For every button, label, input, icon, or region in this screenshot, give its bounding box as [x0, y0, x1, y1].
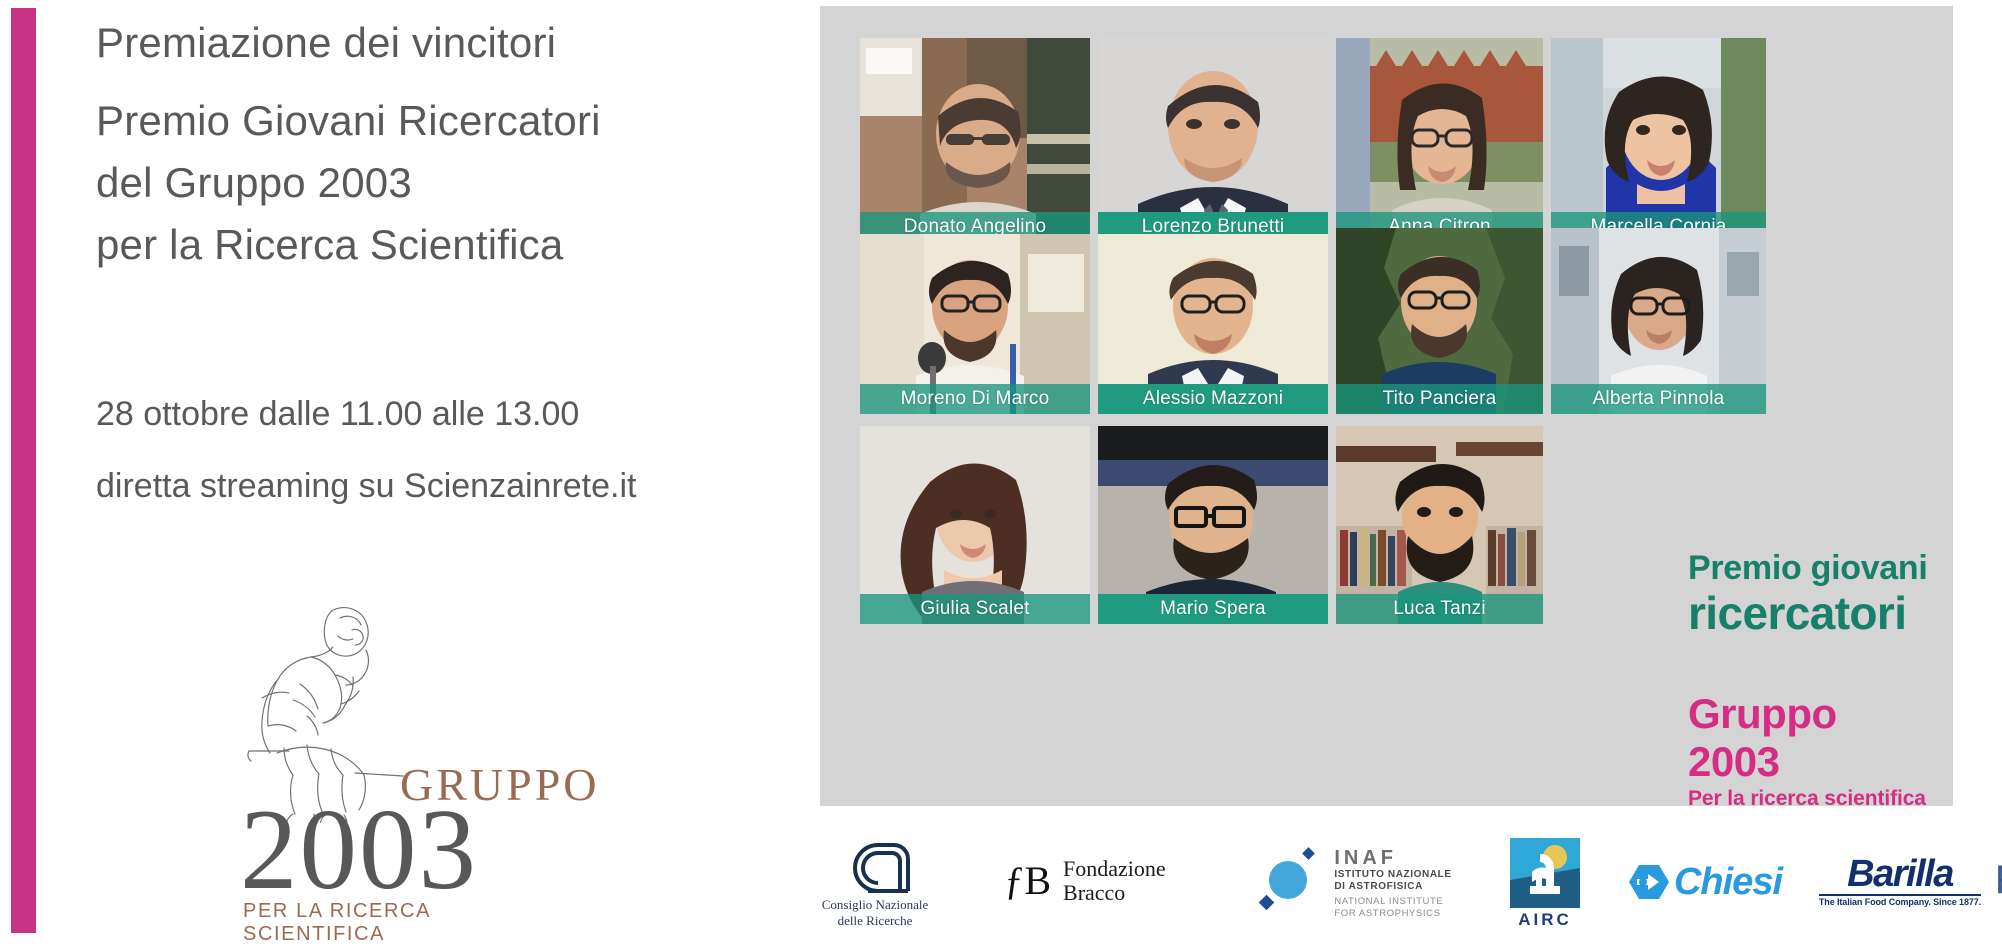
winner-name: Mario Spera: [1160, 598, 1266, 620]
cnr-label-1: Consiglio Nazionale: [822, 897, 929, 913]
sponsor-airc[interactable]: AIRC: [1500, 836, 1590, 932]
bracco-label-1: Fondazione: [1063, 857, 1166, 881]
winner-name-bar: Luca Tanzi: [1336, 594, 1543, 624]
winner-name: Tito Panciera: [1383, 388, 1497, 410]
cnr-monogram-icon: [838, 839, 912, 897]
cnr-label-2: delle Ricerche: [838, 913, 913, 929]
event-details-block: 28 ottobre dalle 11.00 alle 13.00 dirett…: [96, 378, 756, 522]
chiesi-label: Chiesi: [1674, 861, 1782, 904]
winner-name: Alessio Mazzoni: [1143, 388, 1283, 410]
winner-name-bar: Alessio Mazzoni: [1098, 384, 1328, 414]
chiesi-hexagon-icon: [1628, 863, 1670, 901]
inaf-label-2: DI ASTROFISICA: [1334, 881, 1451, 893]
fenda-label: FeNDA: [1995, 858, 2002, 903]
sponsor-chiesi[interactable]: Chiesi: [1610, 852, 1800, 912]
winner-card[interactable]: Anna Citron: [1336, 38, 1543, 242]
logo-year: 2003: [240, 792, 478, 907]
winner-name: Alberta Pinnola: [1593, 388, 1725, 410]
winner-name-bar: Tito Panciera: [1336, 384, 1543, 414]
event-datetime: 28 ottobre dalle 11.00 alle 13.00: [96, 378, 756, 450]
heading-block: Premiazione dei vincitori Premio Giovani…: [96, 12, 746, 276]
winner-card[interactable]: Donato Angelino: [860, 38, 1090, 242]
accent-bar: [11, 8, 36, 933]
barilla-label: Barilla: [1847, 855, 1953, 893]
fb-monogram-icon: ƒB: [1004, 861, 1051, 901]
winner-name-bar: Giulia Scalet: [860, 594, 1090, 624]
award-line-4: Per la ricerca scientifica: [1688, 786, 1938, 812]
winner-name-bar: Moreno Di Marco: [860, 384, 1090, 414]
sponsor-barilla[interactable]: Barilla The Italian Food Company. Since …: [1810, 848, 1990, 914]
logo-tagline: PER LA RICERCA SCIENTIFICA: [243, 900, 575, 946]
gruppo2003-logo: GRUPPO 2003 PER LA RICERCA SCIENTIFICA: [215, 588, 575, 933]
award-line-3: Gruppo 2003: [1688, 690, 1938, 786]
sponsor-cnr[interactable]: Consiglio Nazionale delle Ricerche: [800, 830, 950, 938]
inaf-label-1: ISTITUTO NAZIONALE: [1334, 869, 1451, 881]
award-lockup: Premio giovani ricercatori Gruppo 2003 P…: [1688, 548, 1938, 812]
winner-name-bar: Alberta Pinnola: [1551, 384, 1766, 414]
winner-name: Giulia Scalet: [920, 598, 1029, 620]
event-streaming: diretta streaming su Scienzainrete.it: [96, 450, 756, 522]
heading-line-3: del Gruppo 2003: [96, 152, 746, 214]
barilla-tagline: The Italian Food Company. Since 1877.: [1819, 894, 1981, 907]
award-line-2: ricercatori: [1688, 588, 1938, 638]
inaf-label-4: FOR ASTROPHYSICS: [1334, 908, 1451, 920]
sponsor-strip: Consiglio Nazionale delle Ricerche ƒB Fo…: [800, 822, 1990, 948]
winner-card[interactable]: Lorenzo Brunetti: [1098, 38, 1328, 242]
sponsor-bracco[interactable]: ƒB Fondazione Bracco: [960, 846, 1210, 916]
winner-card[interactable]: Tito Panciera: [1336, 228, 1543, 414]
inaf-label-3: NATIONAL INSTITUTE: [1334, 896, 1451, 908]
airc-label: AIRC: [1518, 910, 1572, 930]
inaf-title: INAF: [1334, 847, 1451, 869]
winner-card[interactable]: Mario Spera: [1098, 426, 1328, 624]
winner-card[interactable]: Alberta Pinnola: [1551, 228, 1766, 414]
heading-line-4: per la Ricerca Scientifica: [96, 214, 746, 276]
winner-card[interactable]: Luca Tanzi: [1336, 426, 1543, 624]
airc-microscope-icon: [1510, 838, 1580, 908]
bracco-label-2: Bracco: [1063, 881, 1166, 905]
winner-card[interactable]: Marcella Cornia: [1551, 38, 1766, 242]
winner-card[interactable]: Giulia Scalet: [860, 426, 1090, 624]
heading-line-2: Premio Giovani Ricercatori: [96, 90, 746, 152]
winner-card[interactable]: Alessio Mazzoni: [1098, 234, 1328, 414]
sponsor-fenda[interactable]: FeNDA: [1988, 852, 2002, 908]
winner-name-bar: Mario Spera: [1098, 594, 1328, 624]
winner-name: Moreno Di Marco: [901, 388, 1050, 410]
heading-line-1: Premiazione dei vincitori: [96, 12, 746, 74]
winner-card[interactable]: Moreno Di Marco: [860, 234, 1090, 414]
winner-name: Luca Tanzi: [1393, 598, 1486, 620]
inaf-planet-icon: [1258, 847, 1328, 919]
award-line-1: Premio giovani: [1688, 548, 1938, 588]
poster-canvas: Premiazione dei vincitori Premio Giovani…: [0, 0, 2002, 950]
sponsor-inaf[interactable]: INAF ISTITUTO NAZIONALE DI ASTROFISICA N…: [1220, 838, 1490, 928]
